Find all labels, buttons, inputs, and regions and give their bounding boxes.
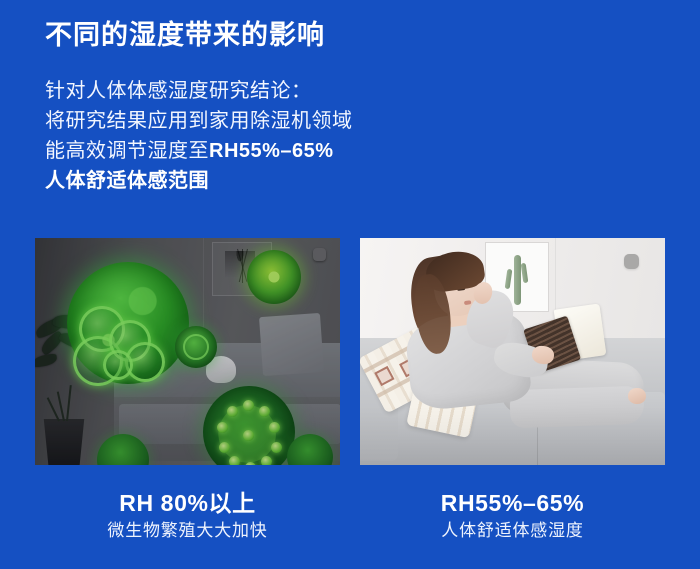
body-line-2: 将研究结果应用到家用除湿机领域 xyxy=(45,106,353,136)
body-line-3: 能高效调节湿度至RH55%–65% xyxy=(45,136,353,166)
caption-comfort-humidity: RH55%–65% 人体舒适体感湿度 xyxy=(360,488,665,544)
bright-living-room-illustration xyxy=(360,238,665,465)
foot xyxy=(628,388,646,404)
caption-row: RH 80%以上 微生物繁殖大大加快 RH55%–65% 人体舒适体感湿度 xyxy=(0,488,700,558)
body-line-3-highlight: RH55%–65% xyxy=(209,140,334,162)
photo-comfort-humidity xyxy=(360,238,665,465)
caption-high-humidity: RH 80%以上 微生物繁殖大大加快 xyxy=(35,488,340,544)
floor-shadow xyxy=(360,406,665,465)
page-title: 不同的湿度带来的影响 xyxy=(45,16,325,54)
body-line-1: 针对人体体感湿度研究结论： xyxy=(45,76,353,106)
body-line-3-prefix: 能高效调节湿度至 xyxy=(45,140,209,162)
caption-title: RH55%–65% xyxy=(360,488,665,518)
caption-subtitle: 微生物繁殖大大加快 xyxy=(35,518,340,544)
dark-living-room-illustration xyxy=(35,238,340,465)
body-copy: 针对人体体感湿度研究结论： 将研究结果应用到家用除湿机领域 能高效调节湿度至RH… xyxy=(45,76,353,196)
body-line-4: 人体舒适体感范围 xyxy=(45,166,353,196)
lips xyxy=(464,300,471,305)
caption-subtitle: 人体舒适体感湿度 xyxy=(360,518,665,544)
caption-title: RH 80%以上 xyxy=(35,488,340,518)
photo-row xyxy=(0,238,700,466)
photo-high-humidity xyxy=(35,238,340,465)
poster-root: 不同的湿度带来的影响 针对人体体感湿度研究结论： 将研究结果应用到家用除湿机领域… xyxy=(0,0,700,569)
photo-dim-overlay xyxy=(35,238,340,465)
